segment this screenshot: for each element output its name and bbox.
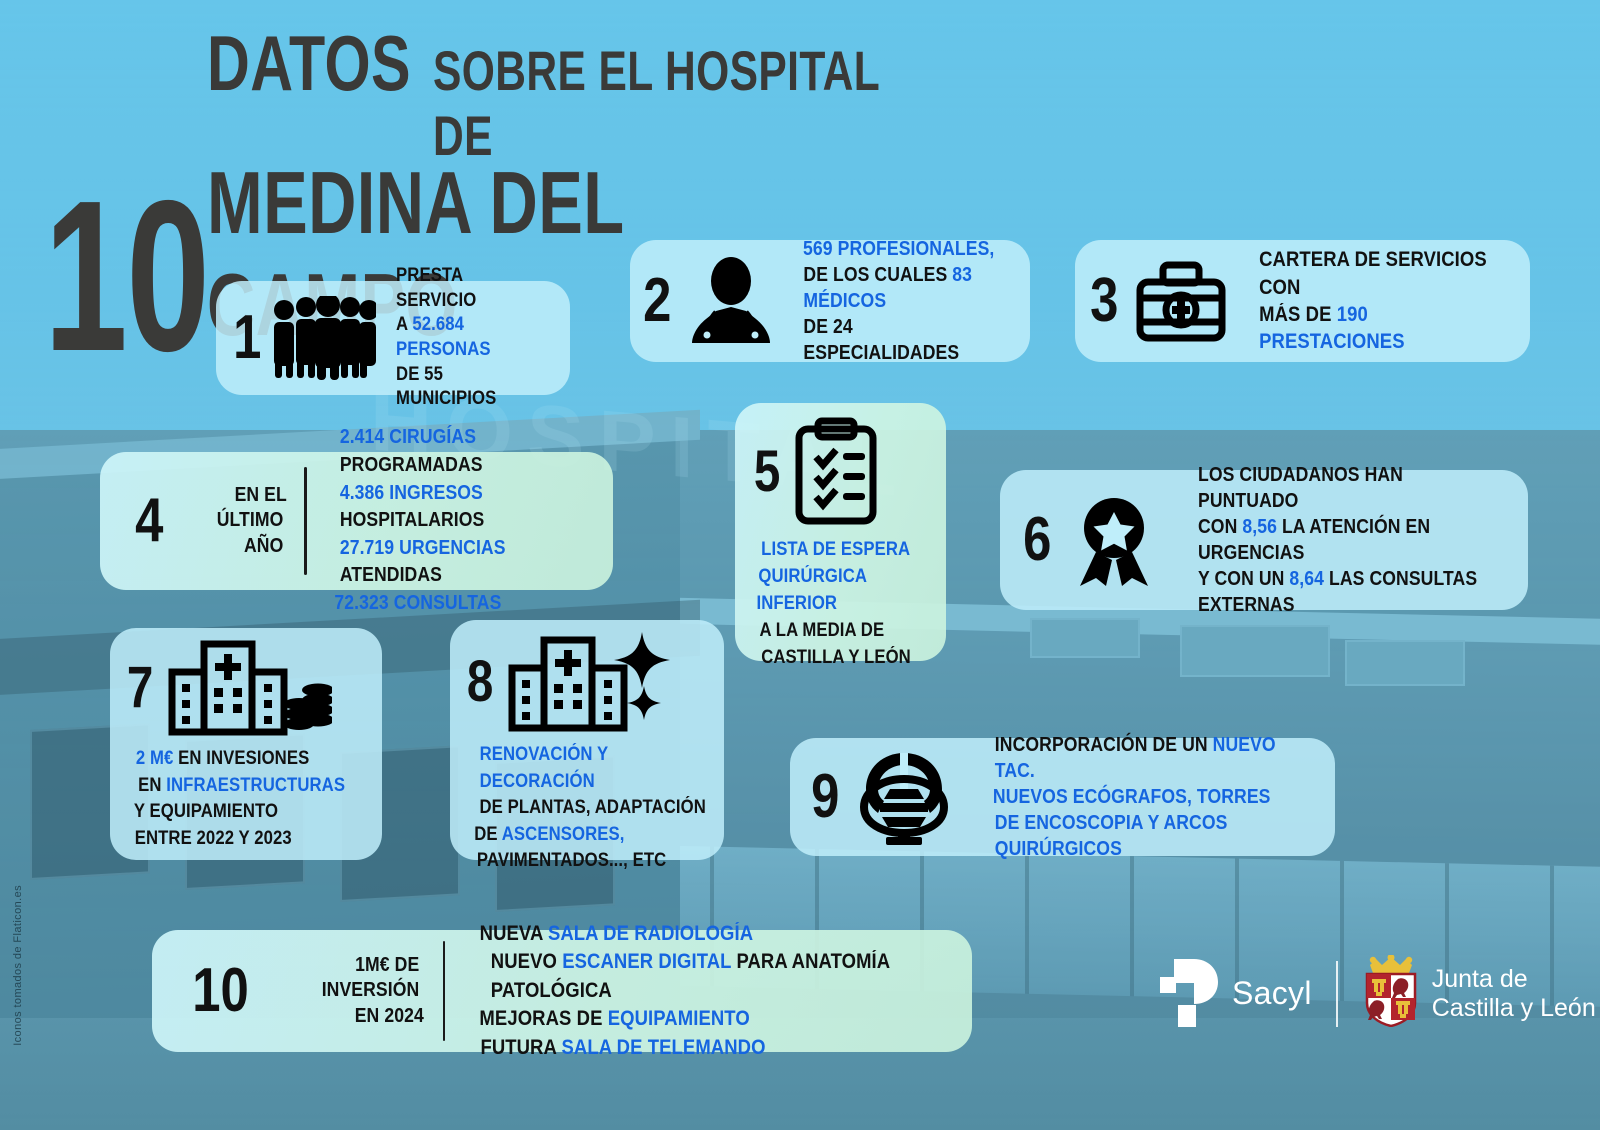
fact-card-8[interactable]: 8 RENOVACIÓN Y DECORACIÓ: [450, 620, 724, 860]
ct-scanner-icon: [854, 749, 954, 845]
fact-card-3[interactable]: 3 CARTERA DE SERVICIOS CON MÁS DE 190 PR…: [1075, 240, 1530, 362]
fact-text-10: NUEVA SALA DE RADIOLOGÍA NUEVO ESCANER D…: [461, 920, 958, 1063]
fact-card-7[interactable]: 7: [110, 628, 382, 860]
fact-card-1[interactable]: 1 PRESTA SERVICIO A 52.684 PERSONAS DE 5…: [216, 281, 570, 395]
group-of-people-icon: [268, 296, 376, 380]
fact-text-7: 2 M€ EN INVESIONES EN INFRAESTRUCTURAS Y…: [124, 746, 359, 852]
fact-number-10: 10: [192, 960, 249, 1022]
fact-text-1: PRESTA SERVICIO A 52.684 PERSONAS DE 55 …: [386, 264, 554, 412]
award-ribbon-icon: [1068, 494, 1160, 586]
fact-label-4: EN EL ÚLTIMO AÑO: [184, 483, 290, 560]
clipboard-checklist-icon: [791, 417, 881, 527]
fact-card-6[interactable]: 6 LOS CIUDADANOS HAN PUNTUADO CON 8,56 L…: [1000, 470, 1528, 610]
junta-wordmark: Junta de Castilla y León: [1432, 965, 1596, 1022]
fact-text-4: 2.414 CIRUGÍAS PROGRAMADAS 4.386 INGRESO…: [323, 424, 603, 617]
fact-divider-10: [443, 941, 446, 1041]
hospital-coins-icon: [162, 638, 332, 738]
fact-label-10: 1M€ DE INVERSIÓN EN 2024: [271, 953, 429, 1030]
doctor-stethoscope-icon: [686, 257, 776, 345]
fact-number-8: 8: [467, 653, 493, 711]
logo-divider: [1336, 961, 1338, 1027]
medical-briefcase-icon: [1135, 260, 1227, 342]
image-credit: Iconos tomados de Flaticon.es: [12, 885, 24, 1046]
fact-card-9[interactable]: 9 INCORPORACIÓN DE UN NUEVO TAC. NUEVOS …: [790, 738, 1335, 856]
title-word-sobre: SOBRE EL HOSPITAL DE: [433, 38, 897, 168]
fact-number-3: 3: [1090, 270, 1118, 332]
fact-divider-4: [304, 467, 307, 575]
fact-card-4[interactable]: 4 EN EL ÚLTIMO AÑO 2.414 CIRUGÍAS PROGRA…: [100, 452, 613, 590]
fact-number-9: 9: [811, 766, 839, 828]
title-word-datos: DATOS: [207, 18, 411, 109]
fact-number-7: 7: [127, 659, 153, 717]
fact-text-9: INCORPORACIÓN DE UN NUEVO TAC. NUEVOS EC…: [974, 732, 1321, 862]
sacyl-wordmark: Sacyl: [1232, 975, 1312, 1012]
fact-number-4: 4: [135, 490, 163, 552]
fact-card-5[interactable]: 5 LISTA DE ESPERA QUIRÚRGICA INFER: [735, 403, 946, 661]
castilla-leon-coat-of-arms-icon: [1362, 955, 1420, 1032]
fact-text-5: LISTA DE ESPERA QUIRÚRGICA INFERIOR A LA…: [751, 537, 921, 672]
title-number: 10: [44, 190, 209, 362]
junta-line2: Castilla y León: [1432, 994, 1596, 1023]
fact-number-1: 1: [233, 307, 261, 369]
fact-number-2: 2: [643, 270, 671, 332]
junta-line1: Junta de: [1432, 965, 1596, 994]
hospital-sparkle-icon: [502, 630, 677, 734]
fact-card-10[interactable]: 10 1M€ DE INVERSIÓN EN 2024 NUEVA SALA D…: [152, 930, 972, 1052]
junta-logo: Junta de Castilla y León: [1362, 955, 1596, 1032]
fact-text-8: RENOVACIÓN Y DECORACIÓN DE PLANTAS, ADAP…: [464, 742, 724, 875]
fact-card-2[interactable]: 2 569 PROFESIONALES, DE LOS CUALES 83 MÉ…: [630, 240, 1030, 362]
sacyl-mark-icon: [1160, 957, 1222, 1031]
fact-text-2: 569 PROFESIONALES, DE LOS CUALES 83 MÉDI…: [790, 236, 1014, 366]
fact-text-3: CARTERA DE SERVICIOS CON MÁS DE 190 PRES…: [1243, 246, 1512, 355]
footer-logos: Sacyl: [1160, 955, 1596, 1032]
fact-text-6: LOS CIUDADANOS HAN PUNTUADO CON 8,56 LA …: [1178, 462, 1512, 618]
fact-number-5: 5: [754, 443, 780, 501]
sacyl-logo: Sacyl: [1160, 957, 1312, 1031]
fact-number-6: 6: [1023, 509, 1051, 571]
